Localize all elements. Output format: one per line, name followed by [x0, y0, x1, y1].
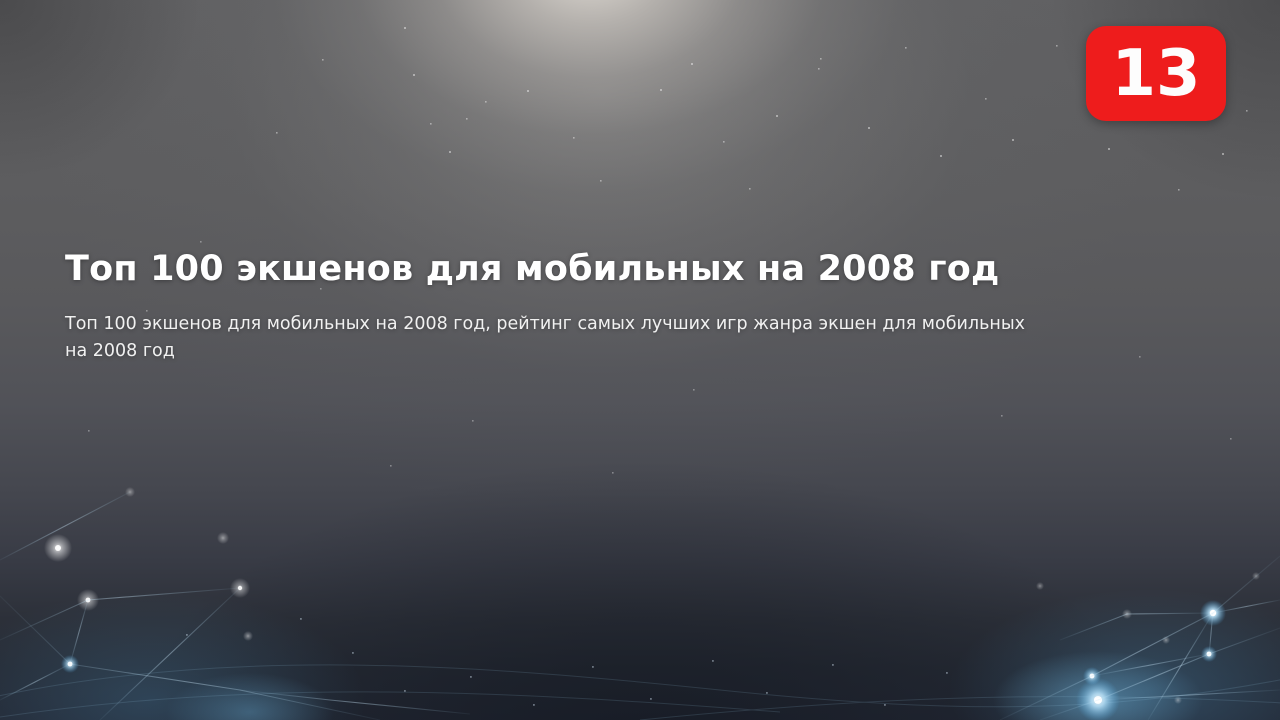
page-subtitle: Топ 100 экшенов для мобильных на 2008 го…	[65, 292, 1050, 365]
slide-canvas: 13 Топ 100 экшенов для мобильных на 2008…	[0, 0, 1280, 720]
slide-number-badge: 13	[1086, 26, 1226, 121]
text-content-block: Топ 100 экшенов для мобильных на 2008 го…	[65, 246, 1075, 365]
page-title: Топ 100 экшенов для мобильных на 2008 го…	[65, 246, 1075, 292]
slide-number-value: 13	[1111, 42, 1200, 106]
